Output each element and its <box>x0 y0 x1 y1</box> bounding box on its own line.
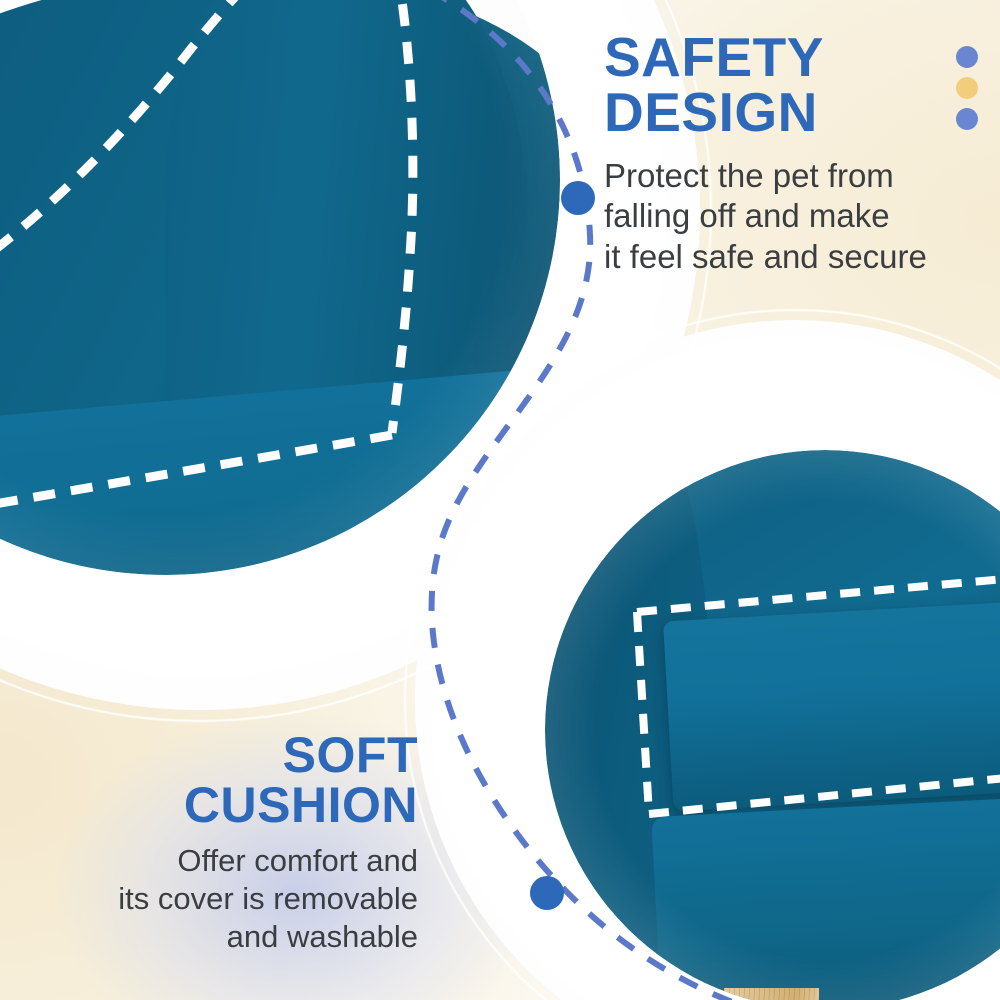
photo-safety-content <box>0 0 560 575</box>
feature-block-safety-design: SAFETY DESIGN Protect the pet from falli… <box>604 30 976 277</box>
cushion-body-line2: its cover is removable <box>118 881 418 916</box>
photo-safety-design <box>0 0 560 575</box>
cushion-body-copy: Offer comfort and its cover is removable… <box>18 842 418 955</box>
dot-yellow-middle <box>956 77 978 99</box>
cushion-headline: SOFT CUSHION <box>18 730 418 830</box>
cushion-body-line3: and washable <box>227 919 418 954</box>
wooden-leg <box>724 988 819 1000</box>
cushion-headline-line1: SOFT <box>283 727 418 783</box>
cushion-headline-line2: CUSHION <box>18 780 418 830</box>
infographic-canvas: SAFETY DESIGN Protect the pet from falli… <box>0 0 1000 1000</box>
safety-headline: SAFETY DESIGN <box>604 30 976 140</box>
dot-blue-bottom <box>956 108 978 130</box>
safety-body-line2: falling off and make <box>604 197 890 234</box>
sofa-seat-cushion <box>651 789 1000 1000</box>
wood-grain-texture <box>724 988 819 1000</box>
safety-headline-line1: SAFETY <box>604 26 824 88</box>
photo-cushion-content <box>545 450 1000 1000</box>
safety-headline-line2: DESIGN <box>604 85 976 140</box>
feature-block-soft-cushion: SOFT CUSHION Offer comfort and its cover… <box>18 730 418 955</box>
photo-soft-cushion <box>545 450 1000 1000</box>
decorative-dot-stack <box>956 46 978 130</box>
cushion-body-line1: Offer comfort and <box>177 843 418 878</box>
safety-body-line3: it feel safe and secure <box>604 238 927 275</box>
safety-body-copy: Protect the pet from falling off and mak… <box>604 156 976 277</box>
sofa-back-cushion <box>663 593 1000 812</box>
safety-body-line1: Protect the pet from <box>604 157 894 194</box>
dot-blue-top <box>956 46 978 68</box>
